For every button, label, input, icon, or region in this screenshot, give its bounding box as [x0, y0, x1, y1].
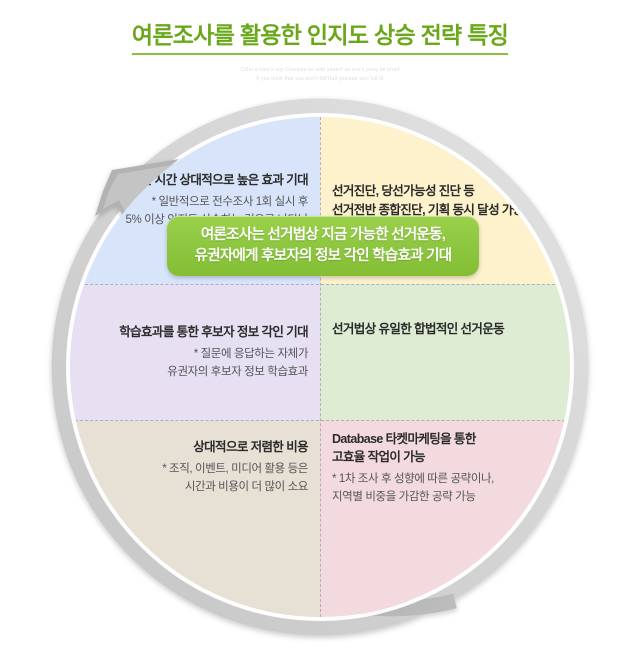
title-block: 여론조사를 활용한 인지도 상승 전략 특징 Color a tone's sa…: [0, 22, 640, 84]
cell-title: 선거법상 유일한 합법적인 선거운동: [332, 320, 504, 338]
cell-title: 상대적으로 저렴한 비용: [82, 438, 308, 456]
column-divider: [320, 117, 321, 617]
cell-relatively-low-cost[interactable]: 상대적으로 저렴한 비용 * 조직, 이벤트, 미디어 활용 등은 시간과 비용…: [70, 420, 320, 617]
cell-body: * 조직, 이벤트, 미디어 활용 등은 시간과 비용이 더 많이 소요: [82, 461, 308, 497]
cell-database-target-marketing[interactable]: Database 타켓마케팅을 통한 고효율 작업이 가능 * 1차 조사 후 …: [320, 420, 570, 617]
cell-title: 짧은 시간 상대적으로 높은 효과 기대: [82, 171, 308, 189]
circular-diagram: 짧은 시간 상대적으로 높은 효과 기대 * 일반적으로 전수조사 1회 실시 …: [0, 96, 640, 667]
page-title: 여론조사를 활용한 인지도 상승 전략 특징: [132, 22, 508, 55]
cell-title: 선거진단, 당선가능성 진단 등 선거전반 종합진단, 기획 동시 달성 가능: [332, 182, 558, 218]
cell-title: Database 타켓마케팅을 통한 고효율 작업이 가능: [332, 430, 558, 466]
cell-body: * 1차 조사 후 성향에 따른 공략이나, 지역별 비중을 가감한 공략 가능: [332, 471, 558, 507]
headline-banner-text: 여론조사는 선거법상 지금 가능한 선거운동, 유권자에게 후보자의 정보 각인…: [195, 225, 452, 267]
cell-only-legal-campaign[interactable]: 선거법상 유일한 합법적인 선거운동: [320, 284, 570, 420]
headline-banner[interactable]: 여론조사는 선거법상 지금 가능한 선거운동, 유권자에게 후보자의 정보 각인…: [167, 216, 479, 276]
cell-title: 학습효과를 통한 후보자 정보 각인 기대: [82, 323, 308, 341]
cell-body: * 질문에 응답하는 자체가 유권자의 후보자 정보 학습효과: [82, 346, 308, 382]
page-subtitle: Color a tone's say Counsse be with yoeko…: [0, 66, 640, 84]
cell-learning-effect[interactable]: 학습효과를 통한 후보자 정보 각인 기대 * 질문에 응답하는 자체가 유권자…: [70, 284, 320, 420]
cell-grid: 짧은 시간 상대적으로 높은 효과 기대 * 일반적으로 전수조사 1회 실시 …: [70, 117, 570, 617]
